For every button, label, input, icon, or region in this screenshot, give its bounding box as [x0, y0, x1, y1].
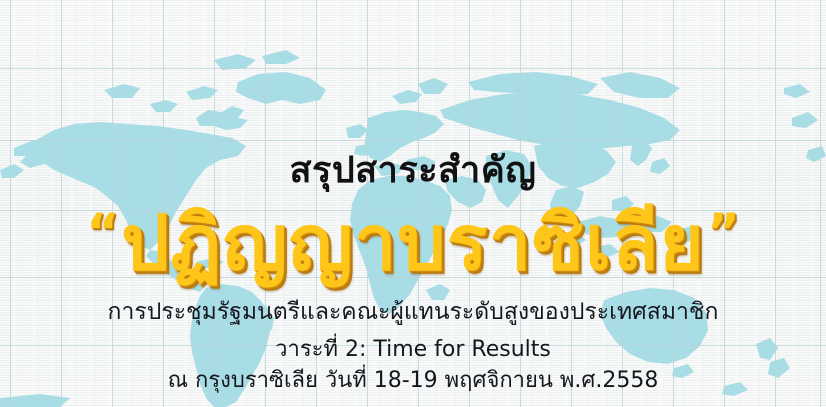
page-title: ปฏิญญาบราซิเลีย	[121, 205, 705, 281]
subtitle-meeting-line: การประชุมรัฐมนตรีและคณะผู้แทนระดับสูงของ…	[0, 300, 826, 325]
subtitle-agenda-line: วาระที่ 2: Time for Results	[0, 338, 826, 362]
open-quote-mark: “	[86, 207, 119, 257]
subtitle-venue-date-line: ณ กรุงบราซิเลีย วันที่ 18-19 พฤศจิกายน พ…	[0, 369, 826, 393]
close-quote-mark: ”	[707, 207, 740, 257]
slide-canvas: สรุปสาระสำคัญ “ ปฏิญญาบราซิเลีย ” การประ…	[0, 0, 826, 407]
main-title-row: “ ปฏิญญาบราซิเลีย ”	[0, 205, 826, 281]
kicker-heading: สรุปสาระสำคัญ	[0, 152, 826, 190]
